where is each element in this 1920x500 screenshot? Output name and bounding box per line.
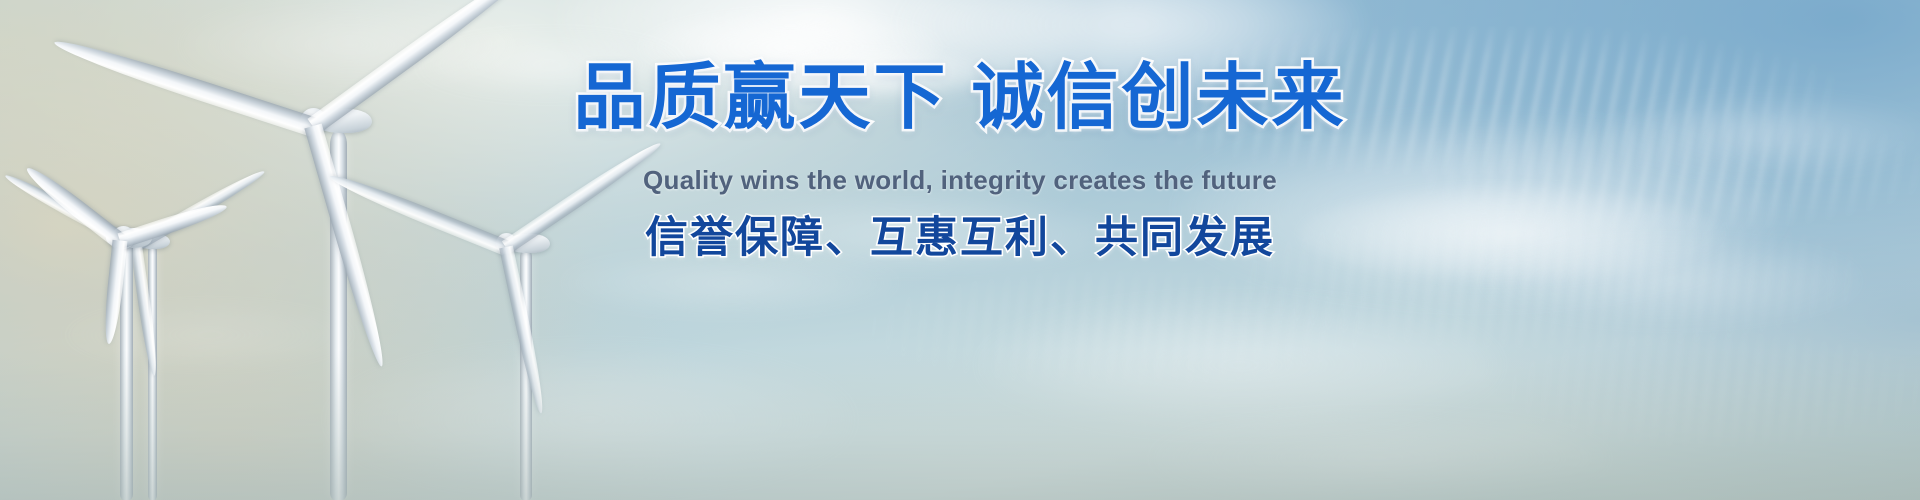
banner-subtitle-english: Quality wins the world, integrity create… xyxy=(0,165,1920,196)
banner-headline: 品质赢天下 诚信创未来 xyxy=(0,62,1920,134)
banner-text-block: 品质赢天下 诚信创未来 Quality wins the world, inte… xyxy=(0,0,1920,500)
hero-banner: 品质赢天下 诚信创未来 Quality wins the world, inte… xyxy=(0,0,1920,500)
banner-tagline: 信誉保障、互惠互利、共同发展 xyxy=(0,203,1920,265)
